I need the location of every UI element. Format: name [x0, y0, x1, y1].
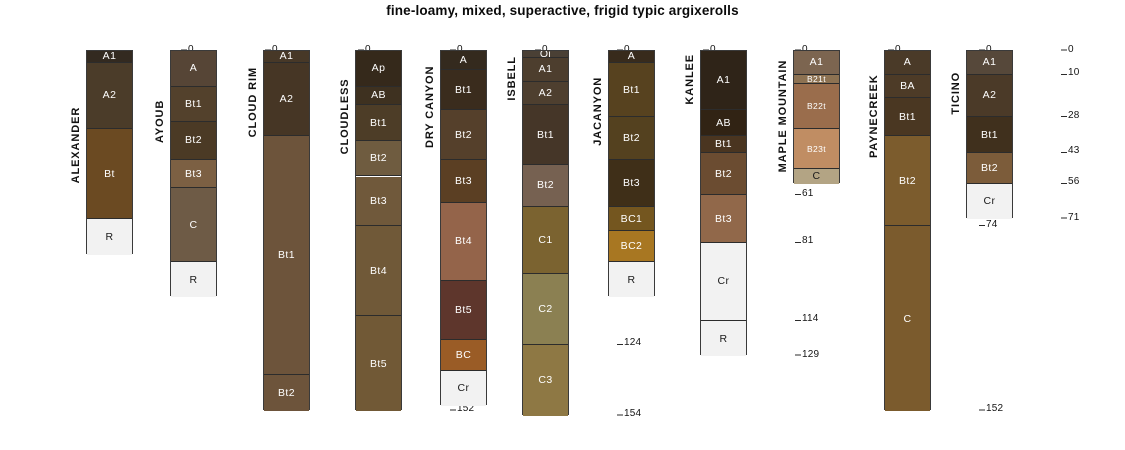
axis-tick-label: 10 [1068, 67, 1080, 78]
axis-tick [795, 194, 801, 195]
axis-tick [795, 320, 801, 321]
profile-column: A1B21tB22tB23tC [793, 50, 840, 183]
axis-tick-label: 43 [1068, 145, 1080, 156]
axis-tick-label: 124 [624, 337, 641, 348]
horizon-label: A [441, 54, 486, 66]
soil-horizon: A1 [264, 51, 309, 63]
horizon-label: A1 [794, 56, 839, 68]
soil-horizon: Bt1 [967, 117, 1012, 153]
horizon-label: A1 [701, 74, 746, 86]
horizon-label: Bt1 [441, 84, 486, 96]
soil-horizon: Bt5 [356, 316, 401, 411]
axis-tick [1061, 152, 1067, 153]
horizon-label: BC [441, 349, 486, 361]
profile-name-label: PAYNECREEK [868, 69, 880, 163]
soil-horizon: Ap [356, 51, 401, 87]
soil-horizon: Bt1 [523, 105, 568, 164]
profile-name-label: KANLEE [684, 49, 696, 109]
profile-column: ABABt1Bt2C [884, 50, 931, 410]
soil-horizon: C [794, 169, 839, 183]
soil-horizon: Bt2 [609, 117, 654, 160]
soil-horizon: B21t [794, 75, 839, 84]
horizon-label: Bt2 [523, 179, 568, 191]
soil-horizon: A2 [264, 63, 309, 136]
profile-name-label: ALEXANDER [70, 102, 82, 187]
horizon-label: C [794, 170, 839, 182]
profile-name-label: AYOUB [154, 96, 166, 147]
soil-horizon: BC2 [609, 231, 654, 262]
soil-horizon: C2 [523, 274, 568, 345]
axis-tick-label: 56 [1068, 176, 1080, 187]
soil-horizon: AB [356, 87, 401, 106]
soil-horizon: A1 [701, 51, 746, 110]
horizon-label: BC2 [609, 240, 654, 252]
horizon-label: A1 [87, 51, 132, 62]
soil-horizon: Oi [523, 51, 568, 58]
horizon-label: Bt4 [356, 265, 401, 277]
axis-tick-label: 74 [986, 219, 998, 230]
profile-name-label: DRY CANYON [424, 60, 436, 154]
horizon-label: Bt1 [356, 117, 401, 129]
horizon-label: C3 [523, 374, 568, 386]
horizon-label: R [87, 231, 132, 243]
soil-horizon: Bt2 [441, 110, 486, 160]
axis-tick-label: 114 [802, 313, 819, 324]
soil-horizon: Bt4 [356, 226, 401, 316]
horizon-label: C [171, 219, 216, 231]
horizon-label: A2 [523, 87, 568, 99]
axis-tick-label: 129 [802, 349, 819, 360]
profile-name-label: TICINO [950, 63, 962, 123]
profile-name-label: ISBELL [506, 49, 518, 109]
horizon-label: Bt1 [967, 129, 1012, 141]
soil-horizon: A [885, 51, 930, 75]
axis-tick [617, 344, 623, 345]
horizon-label: Bt [87, 168, 132, 180]
horizon-label: Cr [441, 382, 486, 394]
soil-horizon: A1 [967, 51, 1012, 75]
axis-tick-label: 0 [1068, 44, 1074, 55]
horizon-label: B21t [794, 75, 839, 84]
horizon-label: Bt2 [171, 134, 216, 146]
soil-horizon: A [609, 51, 654, 63]
soil-horizon: C [885, 226, 930, 411]
axis-tick-label: 152 [986, 403, 1003, 414]
horizon-label: C [885, 313, 930, 325]
profile-column: ABt1Bt2Bt3CR [170, 50, 217, 296]
soil-horizon: A2 [523, 82, 568, 106]
horizon-label: Bt2 [609, 132, 654, 144]
soil-horizon: A2 [87, 63, 132, 129]
soil-horizon: A1 [87, 51, 132, 63]
horizon-label: A2 [967, 89, 1012, 101]
horizon-label: A [171, 62, 216, 74]
soil-horizon: Bt2 [171, 122, 216, 160]
horizon-label: A2 [264, 93, 309, 105]
soil-horizon: R [609, 262, 654, 298]
horizon-label: Bt3 [171, 168, 216, 180]
page-title: fine-loamy, mixed, superactive, frigid t… [0, 3, 1125, 18]
axis-tick-label: 61 [802, 188, 814, 199]
profile-name-label: CLOUDLESS [339, 74, 351, 159]
axis-tick-label: 71 [1068, 212, 1080, 223]
soil-horizon: Bt1 [171, 87, 216, 123]
horizon-label: A1 [523, 63, 568, 75]
axis-tick [979, 225, 985, 226]
soil-horizon: Bt3 [609, 160, 654, 207]
horizon-label: Bt3 [609, 177, 654, 189]
soil-horizon: Bt2 [356, 141, 401, 177]
horizon-label: Bt2 [441, 129, 486, 141]
horizon-label: B22t [794, 101, 839, 111]
horizon-label: Bt2 [885, 175, 930, 187]
axis-tick-label: 81 [802, 235, 814, 246]
horizon-label: Bt1 [171, 98, 216, 110]
horizon-label: R [701, 333, 746, 345]
horizon-label: C2 [523, 303, 568, 315]
soil-horizon: B23t [794, 129, 839, 169]
horizon-label: R [171, 274, 216, 286]
horizon-label: Bt2 [356, 152, 401, 164]
soil-horizon: R [701, 321, 746, 357]
soil-horizon: AB [701, 110, 746, 136]
axis-tick [1061, 116, 1067, 117]
soil-horizon: Cr [701, 243, 746, 321]
soil-horizon: Bt1 [356, 105, 401, 141]
soil-horizon: Bt1 [885, 98, 930, 136]
profile-column: A1A2Bt1Bt2 [263, 50, 310, 410]
soil-horizon: Cr [441, 371, 486, 407]
horizon-label: B23t [794, 144, 839, 154]
soil-horizon: Bt1 [441, 70, 486, 110]
horizon-label: Bt5 [356, 358, 401, 370]
soil-horizon: Cr [967, 184, 1012, 220]
horizon-label: Bt3 [441, 175, 486, 187]
horizon-label: Bt1 [264, 249, 309, 261]
profile-column: A1A2Bt1Bt2Cr [966, 50, 1013, 218]
soil-horizon: Bt1 [701, 136, 746, 153]
axis-tick [795, 242, 801, 243]
soil-horizon: A [171, 51, 216, 87]
soil-horizon: Bt2 [264, 375, 309, 411]
horizon-label: Bt3 [701, 213, 746, 225]
soil-horizon: Bt1 [609, 63, 654, 117]
soil-horizon: R [171, 262, 216, 298]
horizon-label: R [609, 274, 654, 286]
soil-horizon: A1 [523, 58, 568, 82]
horizon-label: Cr [701, 275, 746, 287]
profile-name-label: JACANYON [592, 73, 604, 150]
soil-horizon: Bt2 [701, 153, 746, 196]
soil-horizon: A2 [967, 75, 1012, 118]
soil-horizon: C [171, 188, 216, 261]
profile-column: ApABBt1Bt2Bt3Bt4Bt5 [355, 50, 402, 410]
horizon-label: Bt3 [356, 195, 401, 207]
axis-tick-label: 28 [1068, 110, 1080, 121]
horizon-label: BC1 [609, 213, 654, 225]
horizon-label: A1 [967, 56, 1012, 68]
horizon-label: A [609, 51, 654, 62]
profile-column: OiA1A2Bt1Bt2C1C2C3 [522, 50, 569, 415]
soil-horizon: A [441, 51, 486, 70]
soil-horizon: C1 [523, 207, 568, 273]
horizon-label: C1 [523, 234, 568, 246]
horizon-label: Bt2 [967, 162, 1012, 174]
profile-column: A1ABBt1Bt2Bt3CrR [700, 50, 747, 355]
horizon-label: Bt2 [701, 168, 746, 180]
soil-horizon: BC1 [609, 207, 654, 231]
horizon-label: Bt5 [441, 304, 486, 316]
horizon-label: Bt1 [523, 129, 568, 141]
horizon-label: Bt4 [441, 235, 486, 247]
horizon-label: Bt1 [701, 138, 746, 150]
profile-column: A1A2BtR [86, 50, 133, 254]
horizon-label: A2 [87, 89, 132, 101]
horizon-label: Bt2 [264, 387, 309, 399]
soil-horizon: Bt2 [523, 165, 568, 208]
soil-horizon: R [87, 219, 132, 255]
profile-column: ABt1Bt2Bt3Bt4Bt5BCCr [440, 50, 487, 405]
horizon-label: Ap [356, 62, 401, 74]
profile-name-label: MAPLE MOUNTAIN [777, 52, 789, 180]
soil-horizon: Bt3 [171, 160, 216, 188]
horizon-label: Bt1 [885, 111, 930, 123]
soil-horizon: Bt [87, 129, 132, 219]
horizon-label: Bt1 [609, 84, 654, 96]
axis-tick-label: 154 [624, 408, 641, 419]
horizon-label: AB [701, 117, 746, 129]
horizon-label: Cr [967, 195, 1012, 207]
profile-column: ABt1Bt2Bt3BC1BC2R [608, 50, 655, 296]
soil-horizon: Bt2 [885, 136, 930, 226]
soil-horizon: BA [885, 75, 930, 99]
horizon-label: A [885, 56, 930, 68]
soil-horizon: Bt2 [967, 153, 1012, 184]
soil-horizon: Bt4 [441, 203, 486, 281]
axis-tick [1061, 74, 1067, 75]
profile-name-label: CLOUD RIM [247, 59, 259, 144]
horizon-label: BA [885, 80, 930, 92]
horizon-label: AB [356, 89, 401, 101]
soil-horizon: Bt3 [441, 160, 486, 203]
soil-horizon: C3 [523, 345, 568, 416]
soil-horizon: A1 [794, 51, 839, 75]
soil-horizon: Bt3 [701, 195, 746, 242]
soil-horizon: Bt5 [441, 281, 486, 340]
axis-tick [1061, 183, 1067, 184]
soil-horizon: BC [441, 340, 486, 371]
horizon-label: Oi [523, 51, 568, 58]
horizon-label: A1 [264, 51, 309, 62]
soil-horizon: Bt1 [264, 136, 309, 375]
soil-horizon: Bt3 [356, 177, 401, 227]
soil-horizon: B22t [794, 84, 839, 129]
